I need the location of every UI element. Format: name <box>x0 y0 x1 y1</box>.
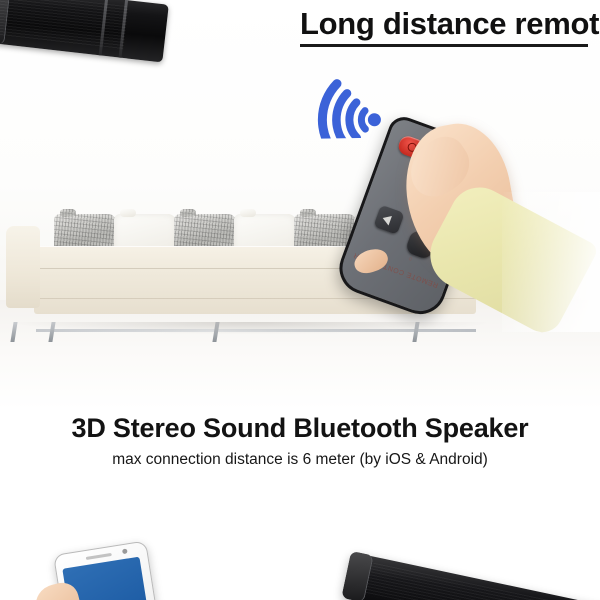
page-title: Long distance remote <box>300 6 600 42</box>
hero-scene: ○ ○ REMOTE CONTROLLER Long distance remo… <box>0 0 600 410</box>
sleeve-fade <box>502 192 600 332</box>
soundbar-bottom <box>342 552 600 600</box>
page-title-underline <box>300 44 588 47</box>
caption-title: 3D Stereo Sound Bluetooth Speaker <box>0 412 600 446</box>
caption-subtitle: max connection distance is 6 meter (by i… <box>0 450 600 470</box>
page-title-wrap: Long distance remote <box>300 6 600 47</box>
bottom-scene <box>0 500 600 600</box>
caption-block: 3D Stereo Sound Bluetooth Speaker max co… <box>0 412 600 470</box>
sofa-armrest <box>6 226 40 308</box>
soundbar-end-cap <box>341 551 373 600</box>
soundbar-seam <box>119 0 129 58</box>
sofa-shadow <box>16 322 486 334</box>
product-listing-image: ○ ○ REMOTE CONTROLLER Long distance remo… <box>0 0 600 600</box>
remote-and-hand: ○ ○ REMOTE CONTROLLER <box>352 122 522 322</box>
play-button <box>373 205 404 235</box>
soundbar-end-cap <box>0 0 11 44</box>
remote-marking: ○ <box>407 255 413 263</box>
soundbar-seam <box>99 0 109 56</box>
phone-camera <box>122 548 128 554</box>
phone-speaker <box>86 553 112 560</box>
